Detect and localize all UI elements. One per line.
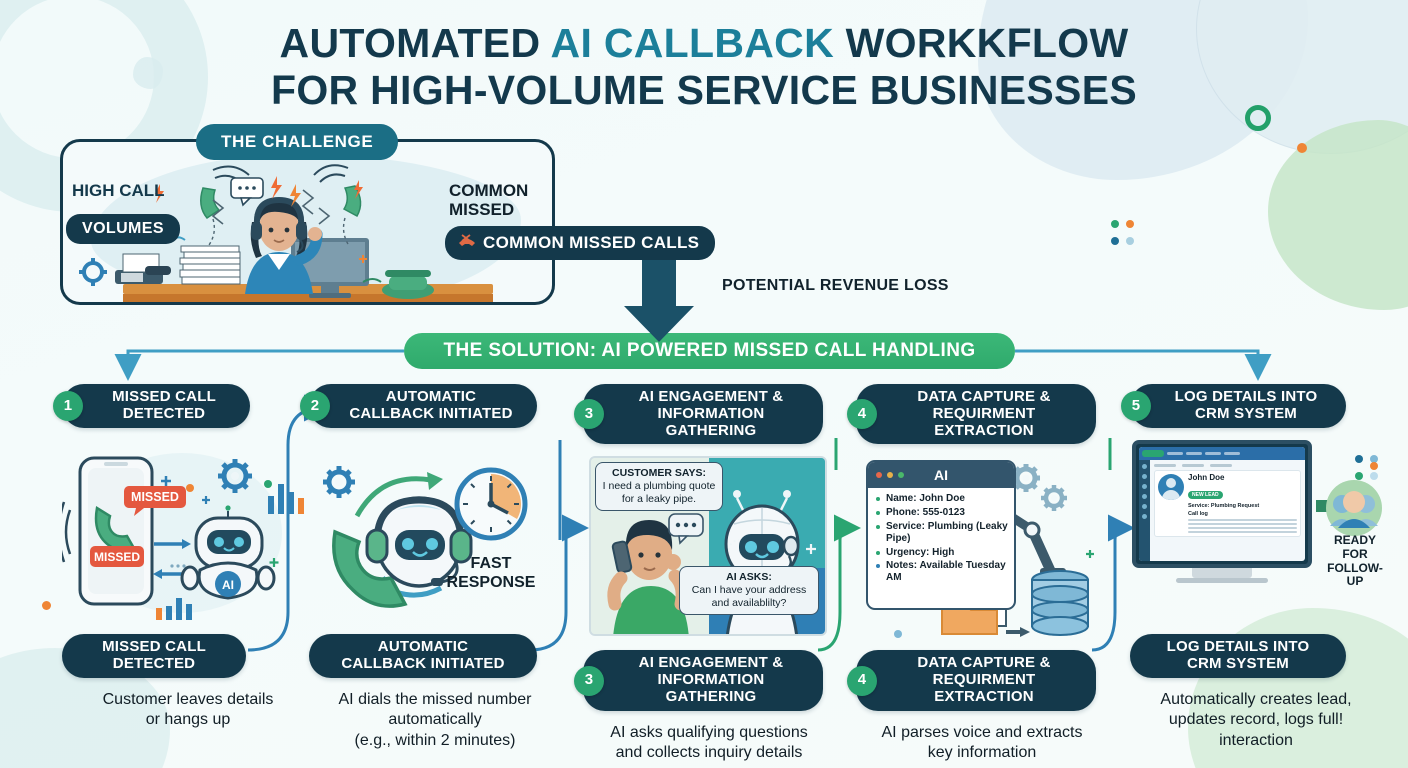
window-maximize-dot bbox=[898, 472, 904, 478]
crm-topbar bbox=[1139, 447, 1305, 460]
ai-asks-label: AI ASKS: bbox=[726, 571, 772, 583]
crm-subtab[interactable] bbox=[1210, 464, 1232, 467]
crm-nav-item[interactable] bbox=[1205, 452, 1221, 455]
crm-nav-item[interactable] bbox=[1167, 452, 1183, 455]
step-5-header-pill: 5 LOG DETAILS INTO CRM SYSTEM bbox=[1130, 384, 1346, 428]
crm-service-line: Service: Plumbing Request bbox=[1188, 503, 1297, 509]
crm-app: John Doe NEW LEAD Service: Plumbing Requ… bbox=[1139, 447, 1305, 561]
step-4-footer-title: DATA CAPTURE & REQUIRMENT EXTRACTION bbox=[888, 655, 1080, 705]
common-missed-label: COMMON MISSED bbox=[449, 181, 528, 219]
volumes-pill: VOLUMES bbox=[66, 214, 180, 244]
step-2-footer-pill: AUTOMATIC CALLBACK INITIATED bbox=[309, 634, 537, 678]
step-3-header-pill: 3 AI ENGAGEMENT & INFORMATION GATHERING bbox=[583, 384, 823, 444]
svg-text:MISSED: MISSED bbox=[131, 490, 179, 504]
crm-contact-name: John Doe bbox=[1188, 474, 1297, 483]
sidebar-icon[interactable] bbox=[1142, 514, 1147, 519]
step-2-title: AUTOMATIC CALLBACK INITIATED bbox=[349, 389, 512, 423]
crm-subtabs bbox=[1154, 464, 1301, 467]
step-4-header-pill: 4 DATA CAPTURE & REQUIRMENT EXTRACTION bbox=[856, 384, 1096, 444]
step-5-illustration: John Doe NEW LEAD Service: Plumbing Requ… bbox=[1130, 438, 1382, 628]
step-1-header-pill: 1 MISSED CALL DETECTED bbox=[62, 384, 250, 428]
step-4-title: DATA CAPTURE & REQUIRMENT EXTRACTION bbox=[888, 389, 1080, 439]
step-3-title: AI ENGAGEMENT & INFORMATION GATHERING bbox=[615, 389, 807, 439]
step-2-number: 2 bbox=[300, 391, 330, 421]
extracted-field: Notes: Available Tuesday AM bbox=[876, 560, 1008, 584]
step-2-caption: AI dials the missed number automatically… bbox=[309, 690, 561, 751]
monitor-base bbox=[1176, 578, 1268, 583]
common-missed-calls-text: COMMON MISSED CALLS bbox=[483, 233, 699, 252]
crm-main: John Doe NEW LEAD Service: Plumbing Requ… bbox=[1150, 460, 1305, 561]
crm-contact-card: John Doe NEW LEAD Service: Plumbing Requ… bbox=[1154, 470, 1301, 537]
crm-nav-item[interactable] bbox=[1224, 452, 1240, 455]
crm-calllog-heading: Call log bbox=[1188, 511, 1297, 517]
crm-status-badge: NEW LEAD bbox=[1188, 491, 1223, 499]
step-1-footer-title: MISSED CALL DETECTED bbox=[102, 639, 206, 673]
step-5-footer-pill: LOG DETAILS INTO CRM SYSTEM bbox=[1130, 634, 1346, 678]
crm-body: John Doe NEW LEAD Service: Plumbing Requ… bbox=[1139, 460, 1305, 561]
window-minimize-dot bbox=[887, 472, 893, 478]
svg-text:FAST: FAST bbox=[471, 555, 512, 572]
step-4-footer-pill: 4 DATA CAPTURE & REQUIRMENT EXTRACTION bbox=[856, 650, 1096, 710]
step-3-caption: AI asks qualifying questions and collect… bbox=[583, 723, 835, 764]
card-title: AI bbox=[934, 467, 948, 483]
step-5-footer-title: LOG DETAILS INTO CRM SYSTEM bbox=[1167, 639, 1310, 673]
extracted-field: Service: Plumbing (Leaky Pipe) bbox=[876, 521, 1008, 545]
ai-asks-text: Can I have your address and availablilty… bbox=[692, 584, 806, 609]
crm-monitor: John Doe NEW LEAD Service: Plumbing Requ… bbox=[1132, 440, 1312, 583]
ready-for-followup-label: READY FOR FOLLOW-UP bbox=[1326, 534, 1384, 589]
step-4-number: 4 bbox=[847, 399, 877, 429]
common-missed-calls-pill: COMMON MISSED CALLS bbox=[445, 226, 715, 260]
step-5-number: 5 bbox=[1121, 391, 1151, 421]
step-3-footer-number: 3 bbox=[574, 666, 604, 696]
step-3-footer-pill: 3 AI ENGAGEMENT & INFORMATION GATHERING bbox=[583, 650, 823, 710]
step-2: 2 AUTOMATIC CALLBACK INITIATED bbox=[309, 384, 561, 751]
step-3-illustration: CUSTOMER SAYS: I need a plumbing quote f… bbox=[583, 454, 835, 644]
customer-says-label: CUSTOMER SAYS: bbox=[612, 467, 706, 479]
step-4: 4 DATA CAPTURE & REQUIRMENT EXTRACTION bbox=[856, 384, 1108, 764]
sidebar-icon[interactable] bbox=[1142, 504, 1147, 509]
step-2-header-pill: 2 AUTOMATIC CALLBACK INITIATED bbox=[309, 384, 537, 428]
step-1: 1 MISSED CALL DETECTED MISSED bbox=[62, 384, 314, 731]
monitor-stand bbox=[1192, 568, 1252, 578]
step-1-caption: Customer leaves details or hangs up bbox=[62, 690, 314, 731]
ai-speech-bubble: AI ASKS: Can I have your address and ava… bbox=[679, 566, 819, 615]
extracted-field-list: Name: John Doe Phone: 555-0123 Service: … bbox=[868, 488, 1014, 584]
crm-nav-item[interactable] bbox=[1186, 452, 1202, 455]
window-close-dot bbox=[876, 472, 882, 478]
step-5-title: LOG DETAILS INTO CRM SYSTEM bbox=[1175, 389, 1318, 423]
step-3: 3 AI ENGAGEMENT & INFORMATION GATHERING bbox=[583, 384, 835, 764]
step-3-footer-title: AI ENGAGEMENT & INFORMATION GATHERING bbox=[615, 655, 807, 705]
step-4-caption: AI parses voice and extracts key informa… bbox=[856, 723, 1108, 764]
monitor-screen: John Doe NEW LEAD Service: Plumbing Requ… bbox=[1132, 440, 1312, 568]
infographic-canvas: AUTOMATED AI CALLBACK WORKKFLOW FOR HIGH… bbox=[0, 0, 1408, 768]
step-2-illustration: FAST RESPONSE bbox=[309, 438, 561, 628]
card-title-bar: AI bbox=[868, 462, 1014, 488]
step-1-number: 1 bbox=[53, 391, 83, 421]
svg-text:AI: AI bbox=[222, 578, 234, 592]
step-4-footer-number: 4 bbox=[847, 666, 877, 696]
missed-call-icon bbox=[457, 234, 477, 248]
sidebar-icon[interactable] bbox=[1142, 484, 1147, 489]
step-3-number: 3 bbox=[574, 399, 604, 429]
extracted-data-card: AI Name: John Doe Phone: 555-0123 Servic… bbox=[866, 460, 1016, 610]
customer-says-text: I need a plumbing quote for a leaky pipe… bbox=[603, 480, 716, 505]
extracted-field: Urgency: High bbox=[876, 547, 1008, 559]
crm-subtab[interactable] bbox=[1154, 464, 1176, 467]
step-4-illustration: AI Name: John Doe Phone: 555-0123 Servic… bbox=[856, 454, 1108, 644]
svg-text:MISSED: MISSED bbox=[94, 550, 140, 564]
svg-text:RESPONSE: RESPONSE bbox=[447, 574, 536, 591]
crm-sidebar bbox=[1139, 460, 1150, 561]
crm-subtab[interactable] bbox=[1182, 464, 1204, 467]
step-5: 5 LOG DETAILS INTO CRM SYSTEM bbox=[1130, 384, 1382, 751]
crm-active-tab[interactable] bbox=[1142, 450, 1164, 457]
challenge-badge: THE CHALLENGE bbox=[196, 124, 398, 160]
sidebar-icon[interactable] bbox=[1142, 494, 1147, 499]
sidebar-icon[interactable] bbox=[1142, 464, 1147, 469]
sidebar-icon[interactable] bbox=[1142, 474, 1147, 479]
extracted-field: Name: John Doe bbox=[876, 493, 1008, 505]
step-5-caption: Automatically creates lead, updates reco… bbox=[1130, 690, 1382, 751]
step-1-title: MISSED CALL DETECTED bbox=[112, 389, 216, 423]
step-3-scene: CUSTOMER SAYS: I need a plumbing quote f… bbox=[589, 456, 827, 636]
avatar bbox=[1158, 474, 1184, 500]
customer-speech-bubble: CUSTOMER SAYS: I need a plumbing quote f… bbox=[595, 462, 723, 511]
high-call-label: HIGH CALL bbox=[72, 182, 165, 201]
step-1-illustration: MISSED MISSED bbox=[62, 438, 314, 628]
step-2-footer-title: AUTOMATIC CALLBACK INITIATED bbox=[341, 639, 504, 673]
extracted-field: Phone: 555-0123 bbox=[876, 507, 1008, 519]
crm-log-rows bbox=[1188, 519, 1297, 533]
step-1-footer-pill: MISSED CALL DETECTED bbox=[62, 634, 246, 678]
